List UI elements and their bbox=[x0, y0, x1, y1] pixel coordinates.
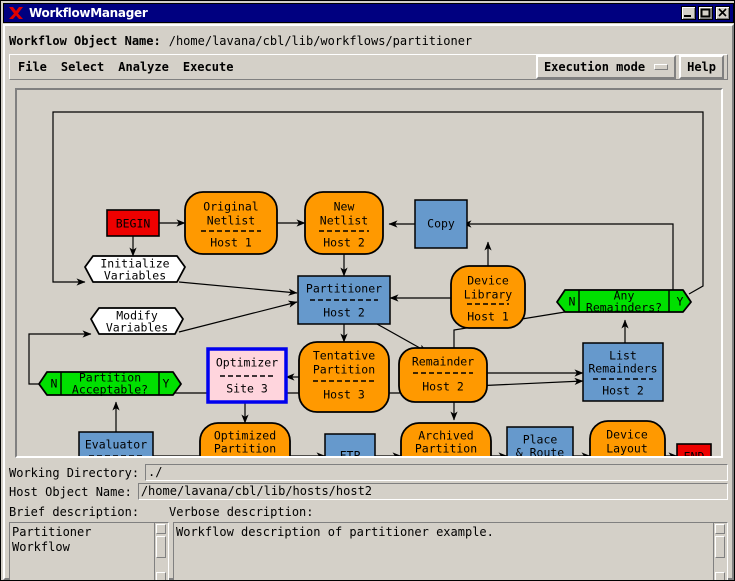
properties-panel: Working Directory: ./ Host Object Name: … bbox=[9, 464, 728, 576]
svg-text:Host 2: Host 2 bbox=[422, 380, 464, 394]
x11-red-x-icon bbox=[7, 5, 25, 21]
brief-description-box[interactable]: Partitioner Workflow bbox=[9, 522, 169, 581]
menu-analyze[interactable]: Analyze bbox=[112, 57, 175, 77]
verbose-description-text[interactable]: Workflow description of partitioner exam… bbox=[174, 523, 713, 581]
node-copy[interactable]: Copy bbox=[415, 200, 467, 248]
verbose-description-label: Verbose description: bbox=[169, 505, 314, 519]
svg-text:FTP: FTP bbox=[340, 449, 361, 457]
svg-text:Evaluator: Evaluator bbox=[85, 438, 147, 452]
svg-text:N: N bbox=[51, 377, 58, 391]
node-new-netlist[interactable]: New Netlist Host 2 bbox=[305, 192, 383, 254]
help-button[interactable]: Help bbox=[679, 55, 724, 79]
svg-text:END: END bbox=[684, 450, 705, 457]
svg-text:Library: Library bbox=[464, 288, 513, 302]
help-label: Help bbox=[687, 60, 716, 74]
svg-text:Tentative: Tentative bbox=[313, 349, 375, 363]
svg-text:Optimized: Optimized bbox=[214, 429, 276, 443]
svg-text:Host 1: Host 1 bbox=[210, 236, 252, 250]
host-object-name-row: Host Object Name: /home/lavana/cbl/lib/h… bbox=[9, 483, 728, 500]
svg-text:New: New bbox=[334, 200, 355, 214]
svg-text:& Route: & Route bbox=[516, 446, 565, 457]
svg-text:Remainders?: Remainders? bbox=[586, 301, 662, 315]
svg-text:Optimizer: Optimizer bbox=[216, 356, 278, 370]
scroll-down-arrow-icon[interactable] bbox=[715, 572, 725, 581]
execution-mode-label: Execution mode bbox=[544, 60, 645, 74]
scroll-up-arrow-icon[interactable] bbox=[156, 524, 166, 534]
execution-mode-option-menu[interactable]: Execution mode bbox=[536, 55, 676, 79]
svg-text:Host 2: Host 2 bbox=[602, 384, 644, 398]
svg-text:Layout: Layout bbox=[606, 442, 648, 456]
workflow-object-label: Workflow Object Name: bbox=[9, 34, 161, 48]
svg-text:Partition: Partition bbox=[415, 442, 477, 456]
node-modify-variables[interactable]: Modify Variables bbox=[91, 308, 183, 335]
svg-text:Partition: Partition bbox=[214, 442, 276, 456]
svg-text:Variables: Variables bbox=[106, 321, 168, 335]
node-begin[interactable]: BEGIN bbox=[107, 210, 159, 236]
svg-text:Place: Place bbox=[523, 433, 558, 447]
node-evaluator[interactable]: Evaluator Host 2 bbox=[79, 432, 153, 456]
working-directory-label: Working Directory: bbox=[9, 466, 139, 480]
node-any-remainders-decision[interactable]: N Y Any Remainders? bbox=[557, 289, 691, 315]
verbose-description-scrollbar[interactable] bbox=[713, 523, 727, 581]
brief-description-scrollbar[interactable] bbox=[154, 523, 168, 581]
node-device-library[interactable]: Device Library Host 1 bbox=[451, 266, 525, 328]
svg-text:Archived: Archived bbox=[418, 429, 473, 443]
working-directory-input[interactable]: ./ bbox=[145, 464, 728, 481]
minimize-button[interactable] bbox=[681, 6, 696, 20]
scroll-down-arrow-icon[interactable] bbox=[156, 572, 166, 581]
svg-text:Site 3: Site 3 bbox=[226, 382, 268, 396]
window-controls bbox=[681, 6, 730, 20]
svg-text:Remainder: Remainder bbox=[412, 355, 474, 369]
node-end[interactable]: END bbox=[677, 444, 711, 456]
svg-text:Host 3: Host 3 bbox=[323, 388, 365, 402]
svg-text:Variables: Variables bbox=[104, 269, 166, 283]
svg-text:Remainders: Remainders bbox=[588, 362, 657, 376]
description-headers: Brief description: Verbose description: bbox=[9, 505, 728, 519]
node-optimizer-selected[interactable]: Optimizer Site 3 bbox=[208, 349, 286, 402]
node-initialize-variables[interactable]: Initialize Variables bbox=[85, 256, 185, 283]
description-row: Partitioner Workflow Workflow descriptio… bbox=[9, 522, 728, 581]
svg-text:Y: Y bbox=[677, 295, 684, 309]
workflow-object-value[interactable]: /home/lavana/cbl/lib/workflows/partition… bbox=[169, 34, 472, 48]
svg-text:Netlist: Netlist bbox=[320, 214, 368, 228]
menu-file[interactable]: File bbox=[12, 57, 53, 77]
node-ftp[interactable]: FTP bbox=[325, 434, 375, 456]
workflow-object-row: Workflow Object Name: /home/lavana/cbl/l… bbox=[9, 30, 728, 52]
client-area: Workflow Object Name: /home/lavana/cbl/l… bbox=[3, 24, 734, 580]
menu-bar-right: Execution mode Help bbox=[536, 55, 724, 79]
svg-text:Netlist: Netlist bbox=[207, 214, 255, 228]
svg-text:BEGIN: BEGIN bbox=[116, 217, 151, 231]
maximize-button[interactable] bbox=[698, 6, 713, 20]
close-button[interactable] bbox=[715, 6, 730, 20]
node-tentative-partition[interactable]: Tentative Partition Host 3 bbox=[299, 342, 389, 412]
svg-text:Partitioner: Partitioner bbox=[306, 282, 382, 296]
node-original-netlist[interactable]: Original Netlist Host 1 bbox=[185, 192, 277, 254]
workflow-canvas[interactable]: BEGIN Original Netlist Host 1 New Netlis… bbox=[15, 88, 723, 458]
svg-text:Y: Y bbox=[163, 377, 170, 391]
scroll-up-arrow-icon[interactable] bbox=[715, 524, 725, 534]
option-menu-indicator-icon bbox=[654, 64, 668, 70]
menu-execute[interactable]: Execute bbox=[177, 57, 240, 77]
working-directory-row: Working Directory: ./ bbox=[9, 464, 728, 481]
window-title: WorkflowManager bbox=[29, 6, 147, 20]
svg-text:Device: Device bbox=[467, 274, 509, 288]
svg-text:List: List bbox=[609, 349, 637, 363]
menu-bar: File Select Analyze Execute Execution mo… bbox=[9, 54, 728, 80]
brief-description-text[interactable]: Partitioner Workflow bbox=[10, 523, 154, 581]
scroll-thumb[interactable] bbox=[715, 536, 725, 558]
svg-text:Original: Original bbox=[203, 200, 258, 214]
menu-select[interactable]: Select bbox=[55, 57, 110, 77]
node-optimized-partition[interactable]: Optimized Partition Host 2 bbox=[200, 423, 290, 456]
node-remainder[interactable]: Remainder Host 2 bbox=[399, 348, 487, 402]
node-partition-acceptable-decision[interactable]: N Y Partition Acceptable? bbox=[39, 371, 181, 397]
svg-text:Acceptable?: Acceptable? bbox=[72, 383, 148, 397]
node-place-and-route[interactable]: Place & Route Host 1 bbox=[507, 427, 573, 456]
svg-text:Host 2: Host 2 bbox=[323, 236, 365, 250]
svg-text:Host 1: Host 1 bbox=[467, 310, 509, 324]
verbose-description-box[interactable]: Workflow description of partitioner exam… bbox=[173, 522, 728, 581]
svg-text:Copy: Copy bbox=[427, 217, 455, 231]
workflow-manager-window: WorkflowManager Workflow Object Name: /h… bbox=[0, 0, 735, 581]
host-object-name-label: Host Object Name: bbox=[9, 485, 132, 499]
svg-text:N: N bbox=[569, 295, 576, 309]
svg-text:Partition: Partition bbox=[313, 363, 375, 377]
svg-text:Device: Device bbox=[606, 428, 648, 442]
svg-text:Host 2: Host 2 bbox=[323, 306, 365, 320]
node-archived-partition[interactable]: Archived Partition Host 1 bbox=[401, 423, 491, 456]
node-device-layout[interactable]: Device Layout Host 1 bbox=[590, 421, 665, 456]
title-bar: WorkflowManager bbox=[3, 3, 734, 23]
scroll-thumb[interactable] bbox=[156, 536, 166, 558]
workflow-graph: BEGIN Original Netlist Host 1 New Netlis… bbox=[17, 90, 721, 456]
node-partitioner[interactable]: Partitioner Host 2 bbox=[298, 276, 390, 324]
node-list-remainders[interactable]: List Remainders Host 2 bbox=[583, 343, 663, 401]
host-object-name-input[interactable]: /home/lavana/cbl/lib/hosts/host2 bbox=[138, 483, 728, 500]
brief-description-label: Brief description: bbox=[9, 505, 169, 519]
